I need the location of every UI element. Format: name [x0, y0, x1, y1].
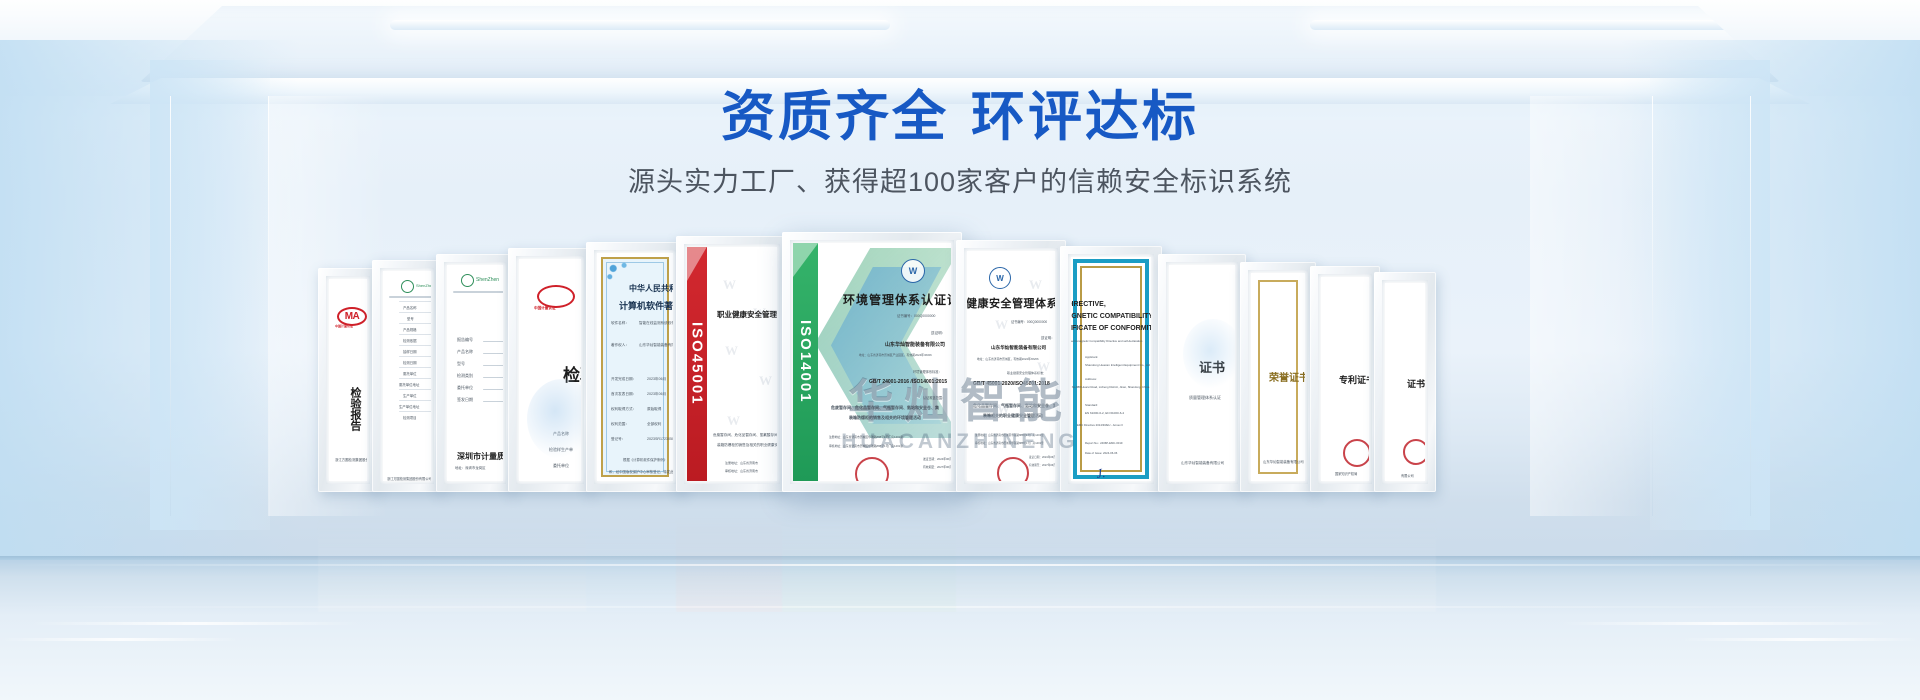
company-label: 兹证明： — [1041, 335, 1055, 340]
field-row: 权利范围： — [611, 422, 629, 427]
field-value: 智能在线监测系统软件 V1.0 — [639, 321, 673, 326]
certificate-subline: The Electromagnetic Compatibility Direct… — [1071, 339, 1142, 343]
ceiling-light-left — [390, 20, 890, 30]
certificate-frame-03[interactable]: ShenZhen 报告编号 产品名称 型号 检测类别 委托单位 签发日期 深圳市… — [436, 254, 514, 492]
certificate-footer: 有限公司 — [1401, 473, 1414, 478]
qualification-banner: 资质齐全环评达标 源头实力工厂、获得超100家客户的信赖安全标识系统 MA 中国… — [0, 0, 1920, 700]
divider — [399, 301, 431, 302]
field-label: 型号 — [457, 361, 465, 367]
certificate-frame-10[interactable]: 证书 质量管理体系认证 山东华灿智能装备有限公司 — [1158, 254, 1246, 492]
certificate-footer-2: 审核地址：山东省济南市 — [725, 469, 758, 473]
divider — [399, 400, 431, 401]
divider — [399, 389, 431, 390]
org-badge-icon — [401, 280, 414, 293]
standard-value: EN 61000-6-2, EN 61000-6-4 — [1085, 411, 1124, 415]
certificate-frame-09[interactable]: EMC DIRECTIVE, ELECTROMAGNETIC COMPATIBI… — [1060, 246, 1162, 492]
certificate-subfooter: 地址：深圳市龙岗区 — [455, 465, 486, 470]
field-label: 检测日期 — [403, 360, 417, 365]
scope-label: 认证覆盖范围： — [923, 395, 945, 400]
floor — [0, 560, 1920, 700]
certificate-body-1: 危废暂存间、危化品暂存间、氢氟酸存间、氨站和安全仓、集 — [713, 433, 777, 438]
standard-label: 职业健康安全管理体系标准： — [1007, 371, 1046, 375]
divider — [483, 377, 503, 378]
paper-watermark — [1183, 319, 1235, 389]
ma-badge-sub: 中国计量认证 — [335, 324, 353, 328]
certificate-frame-12[interactable]: 专利证书 国家知识产权局 — [1310, 266, 1380, 492]
certificate-heading: 专利证书 — [1339, 373, 1369, 386]
divider — [399, 411, 431, 412]
field-row: 著作权人： — [611, 343, 629, 348]
field-label: 产品名称 — [403, 305, 417, 310]
band-corner-decoration — [687, 247, 707, 281]
registered-address: 注册地址：山东省济南市历城区华瑞路888号1号厂房1401室 — [975, 433, 1044, 437]
standard-label: Standard: — [1085, 403, 1098, 407]
divider — [399, 345, 431, 346]
floor-streak — [0, 638, 240, 641]
divider — [483, 401, 503, 402]
iso14001-label: ISO14001 — [797, 320, 814, 404]
floor-streak — [30, 622, 360, 625]
certificate-heading: 证书 — [1407, 377, 1425, 390]
iso45001-label: ISO45001 — [688, 322, 705, 406]
certificate-note-1: 根据《计算机软件保护条例》 — [623, 457, 667, 462]
certificate-frame-08[interactable]: W W W W W 职业健康安全管理体系认证证书 证书编号：000Q000000… — [956, 240, 1066, 492]
scope-line-1: 危化品暂存间、气瓶暂存间、氨站和安全仓、集 — [973, 403, 1055, 409]
field-row: 首次发表日期： — [611, 392, 636, 397]
title-part-1: 资质齐全 — [721, 87, 949, 147]
red-seal-stamp — [855, 457, 889, 481]
field-label: 委托单位 — [403, 371, 417, 376]
divider — [453, 291, 503, 293]
directive-value: EMC Directive 2014/30/EU - Annex II — [1077, 423, 1123, 427]
field-label: 抽样日期 — [403, 349, 417, 354]
certificate-title-line3: CERTIFICATE OF CONFORMITY — [1071, 325, 1151, 332]
certificate-heading: 荣誉证书 — [1269, 369, 1305, 384]
expire-date: 有效期至：2027年06月05日 — [1029, 463, 1055, 467]
certificate-frame-04[interactable]: 中国计量认证 检验报告 产品名称 检验样生产单 委托单位 — [508, 248, 592, 492]
issue-date: Date of Issue: 2024-06-06 — [1085, 451, 1117, 455]
divider — [483, 353, 503, 354]
applicant-value: Shandong Huacan Intelligent Equipment Co… — [1085, 363, 1150, 367]
band-corner-decoration — [793, 243, 818, 277]
divider — [483, 341, 503, 342]
certificate-heading: 检验报告 — [347, 387, 363, 431]
certificate-footer-1: 注册地址：山东省济南市 — [725, 461, 758, 465]
divider — [399, 378, 431, 379]
floor-streak — [1560, 622, 1890, 625]
scope-line-2: 装箱防爆柜的销售及相关的环境管理活动 — [849, 415, 921, 421]
certificate-frame-05[interactable]: 中华人民共和国 计算机软件著作权登记证书 软件名称： 智能在线监测系统软件 V1… — [586, 242, 684, 492]
org-badge-label: ShenZhen — [416, 283, 431, 288]
field-label: 产品名称 — [457, 349, 473, 355]
title-part-2: 环评达标 — [971, 87, 1199, 147]
field-label: 报告编号 — [457, 337, 473, 343]
page-title: 资质齐全环评达标 — [0, 86, 1920, 148]
ornament-icon — [603, 258, 637, 284]
certificate-title-line1: EMC DIRECTIVE, — [1071, 301, 1106, 308]
floor-line — [0, 564, 1920, 566]
certification-seal-icon: W — [901, 259, 925, 283]
audit-address: 审核地址：山东省济南市历城区华瑞路888号1号厂房1401室 — [829, 444, 903, 448]
ma-badge-sub: 中国计量认证 — [534, 306, 556, 311]
certificate-frame-06[interactable]: ISO45001 W W W W W 职业健康安全管理体系认证证书 危废暂存间、… — [676, 236, 788, 492]
field-label: 生产单位地址 — [399, 404, 419, 409]
audit-address: 审核地址：山东省济南市历城区华瑞路888号1号厂房1401室 — [975, 441, 1044, 445]
ceiling-recess — [140, 6, 1780, 82]
certificate-frame-13[interactable]: 证书 有限公司 — [1374, 272, 1436, 492]
field-value: 全部权利 — [647, 422, 661, 427]
applicant-label: Applicant: — [1085, 355, 1098, 359]
field-value: 2023年06月 — [647, 392, 666, 397]
certificate-frame-11[interactable]: 荣誉证书 山东华灿智能装备有限公司 — [1240, 262, 1316, 492]
field-label: 型号 — [407, 316, 414, 321]
scope-line-1: 危废暂存间、危化品暂存间、气瓶暂存间、氨站和安全仓、集 — [831, 405, 939, 411]
floor-line — [0, 606, 1920, 608]
company-name: 山东华灿智能装备有限公司 — [991, 345, 1046, 351]
divider — [399, 334, 431, 335]
field-label: 检测依据 — [403, 338, 417, 343]
field-value: 山东华灿智能装备有限公司 — [639, 343, 673, 348]
certificate-body-2: 装箱防爆柜的销售及相关的职业健康安全活动 — [717, 443, 777, 448]
registered-address: 注册地址：山东省济南市历城区华瑞路888号1号厂房1401室 — [829, 435, 903, 439]
field-value: 2023年06月 — [647, 377, 666, 382]
report-number: Report No.: 2406P-EMC-0019 — [1085, 441, 1122, 445]
field-label: 产品规格 — [403, 327, 417, 332]
field-label: 委托单位 — [457, 385, 473, 391]
certificate-title-line2: ELECTROMAGNETIC COMPATIBILITY DIRECTIVE — [1071, 313, 1151, 320]
field-value: 2023SR1723050 — [647, 437, 673, 441]
standard-value: GB/T 45001-2020/ISO45001:2018 — [973, 381, 1050, 387]
certificate-heading: 职业健康安全管理体系认证证书 — [967, 295, 1055, 311]
certificate-wall: MA 中国计量认证 检验报告 浙江方圆检测集团股份有限公司 ShenZhen 产… — [0, 232, 1920, 492]
divider — [483, 365, 503, 366]
ma-badge-icon — [537, 285, 575, 308]
field-row: 软件名称： — [611, 321, 629, 326]
iso14001-band: ISO14001 — [793, 243, 818, 481]
address-label: Address: — [1085, 377, 1097, 381]
address-value: Building No.888 Huarui Road, Licheng Dis… — [1071, 385, 1149, 389]
company-label: 兹证明： — [931, 331, 945, 336]
divider — [389, 296, 431, 298]
certification-seal-icon: W — [989, 267, 1011, 289]
certificate-note-2: 和，经中国版权保护中心审核登记，特发此证。 — [609, 469, 673, 474]
field-label: 检测类别 — [457, 373, 473, 379]
expire-date: 有效期至：2027年06月05日 — [923, 465, 951, 469]
field-label: 委托单位 — [553, 463, 569, 469]
scope-line-2: 装箱相关的职业健康安全管理活动 — [983, 413, 1043, 419]
headings: 资质齐全环评达标 源头实力工厂、获得超100家客户的信赖安全标识系统 — [0, 86, 1920, 199]
certificate-footer: 深圳市计量质量检测研究院 — [457, 451, 503, 462]
certificate-frame-01[interactable]: MA 中国计量认证 检验报告 浙江方圆检测集团股份有限公司 — [318, 268, 378, 492]
certificate-title-line2: 计算机软件著作权登记证书 — [619, 299, 673, 312]
red-seal-stamp — [997, 457, 1029, 481]
org-badge-label: ShenZhen — [476, 277, 499, 283]
divider — [399, 356, 431, 357]
certificate-heading: 职业健康安全管理体系认证证书 — [717, 309, 777, 320]
field-label: 检测项目 — [403, 415, 417, 420]
certificate-body: 质量管理体系认证 — [1189, 395, 1221, 401]
org-badge-icon — [461, 274, 474, 287]
company-name: 山东华灿智能装备有限公司 — [885, 341, 945, 348]
certificate-footer: 浙江方圆检测集团股份有限公司 — [387, 476, 431, 481]
certificate-heading: 环境管理体系认证证书 — [843, 291, 951, 308]
field-row: 权利取得方式： — [611, 407, 636, 412]
issue-date: 发证日期：2024年06月06日 — [1029, 455, 1055, 459]
certificate-footer: 山东华灿智能装备有限公司 — [1263, 459, 1304, 464]
certificate-number: 证书编号：000Q0000000 — [1011, 319, 1047, 324]
issue-date: 发证日期：2024年06月06日 — [923, 457, 951, 461]
iso45001-band: ISO45001 — [687, 247, 707, 481]
paper-watermark — [527, 379, 581, 459]
field-label: 生产单位 — [403, 393, 417, 398]
red-seal-stamp — [1343, 439, 1369, 467]
field-label: 委托单位地址 — [399, 382, 419, 387]
field-row: 开发完成日期： — [611, 377, 636, 382]
divider — [483, 389, 503, 390]
divider — [399, 323, 431, 324]
standard-value: GB/T 24001-2016 /ISO14001:2015 — [869, 379, 947, 385]
page-subtitle: 源头实力工厂、获得超100家客户的信赖安全标识系统 — [0, 160, 1920, 199]
field-label: 签发日期 — [457, 397, 473, 403]
red-seal-stamp — [1403, 439, 1425, 465]
company-address: 地址：山东省济南市历城区，有效期2024年/06/06 — [977, 357, 1039, 361]
divider — [399, 312, 431, 313]
certificate-title-line1: 中华人民共和国 — [629, 283, 673, 294]
certificate-footer: 国家知识产权局 — [1335, 471, 1357, 476]
certificate-number: 证书编号：000Q0000000 — [897, 313, 935, 318]
standard-label: 环境管理体系标准： — [913, 369, 942, 374]
certificate-footer: 山东华灿智能装备有限公司 — [1181, 461, 1224, 466]
certificate-footer: 浙江方圆检测集团股份有限公司 — [335, 457, 367, 462]
company-address: 地址：山东省济南市历城区产业园区，有效期2024年/06/06 — [859, 353, 932, 357]
divider — [399, 367, 431, 368]
field-row: 登记号： — [611, 437, 625, 442]
field-value: 原始取得 — [647, 407, 661, 412]
certificate-frame-02[interactable]: ShenZhen 产品名称 型号 产品规格 检测依据 抽样日期 检测日期 委托单… — [372, 260, 442, 492]
certificate-frame-07[interactable]: ISO14001 W 环境管理体系认证证书 证书编号：000Q0000000 兹… — [782, 232, 962, 492]
floor-streak — [1680, 638, 1920, 641]
